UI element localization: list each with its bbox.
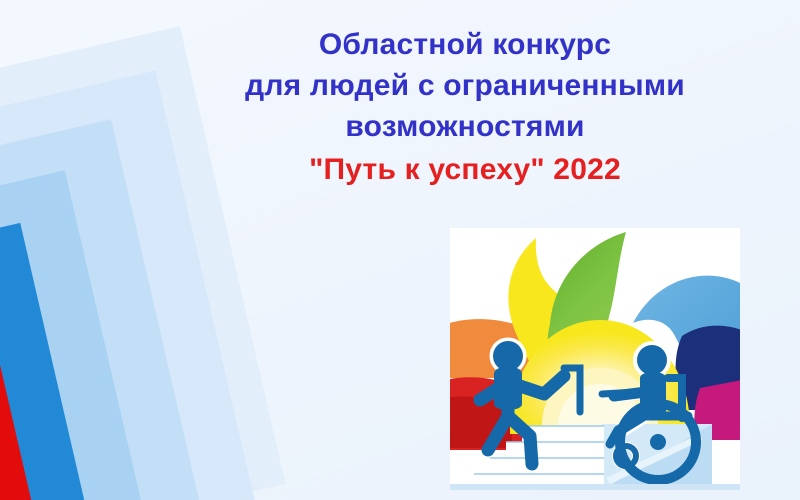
poster-canvas: Областной конкурс для людей с ограниченн… bbox=[0, 0, 800, 500]
title-accent-line: "Путь к успеху" 2022 bbox=[150, 149, 780, 190]
decor-sheet-5 bbox=[0, 223, 112, 500]
title-line-3: возможностями bbox=[150, 106, 780, 147]
emblem-image bbox=[450, 228, 740, 490]
title-line-2: для людей с ограниченными bbox=[150, 65, 780, 106]
decor-sheet-6 bbox=[0, 276, 70, 500]
poster-title: Областной конкурс для людей с ограниченн… bbox=[150, 24, 780, 190]
title-line-1: Областной конкурс bbox=[150, 24, 780, 65]
decor-sheet-4 bbox=[0, 170, 159, 500]
